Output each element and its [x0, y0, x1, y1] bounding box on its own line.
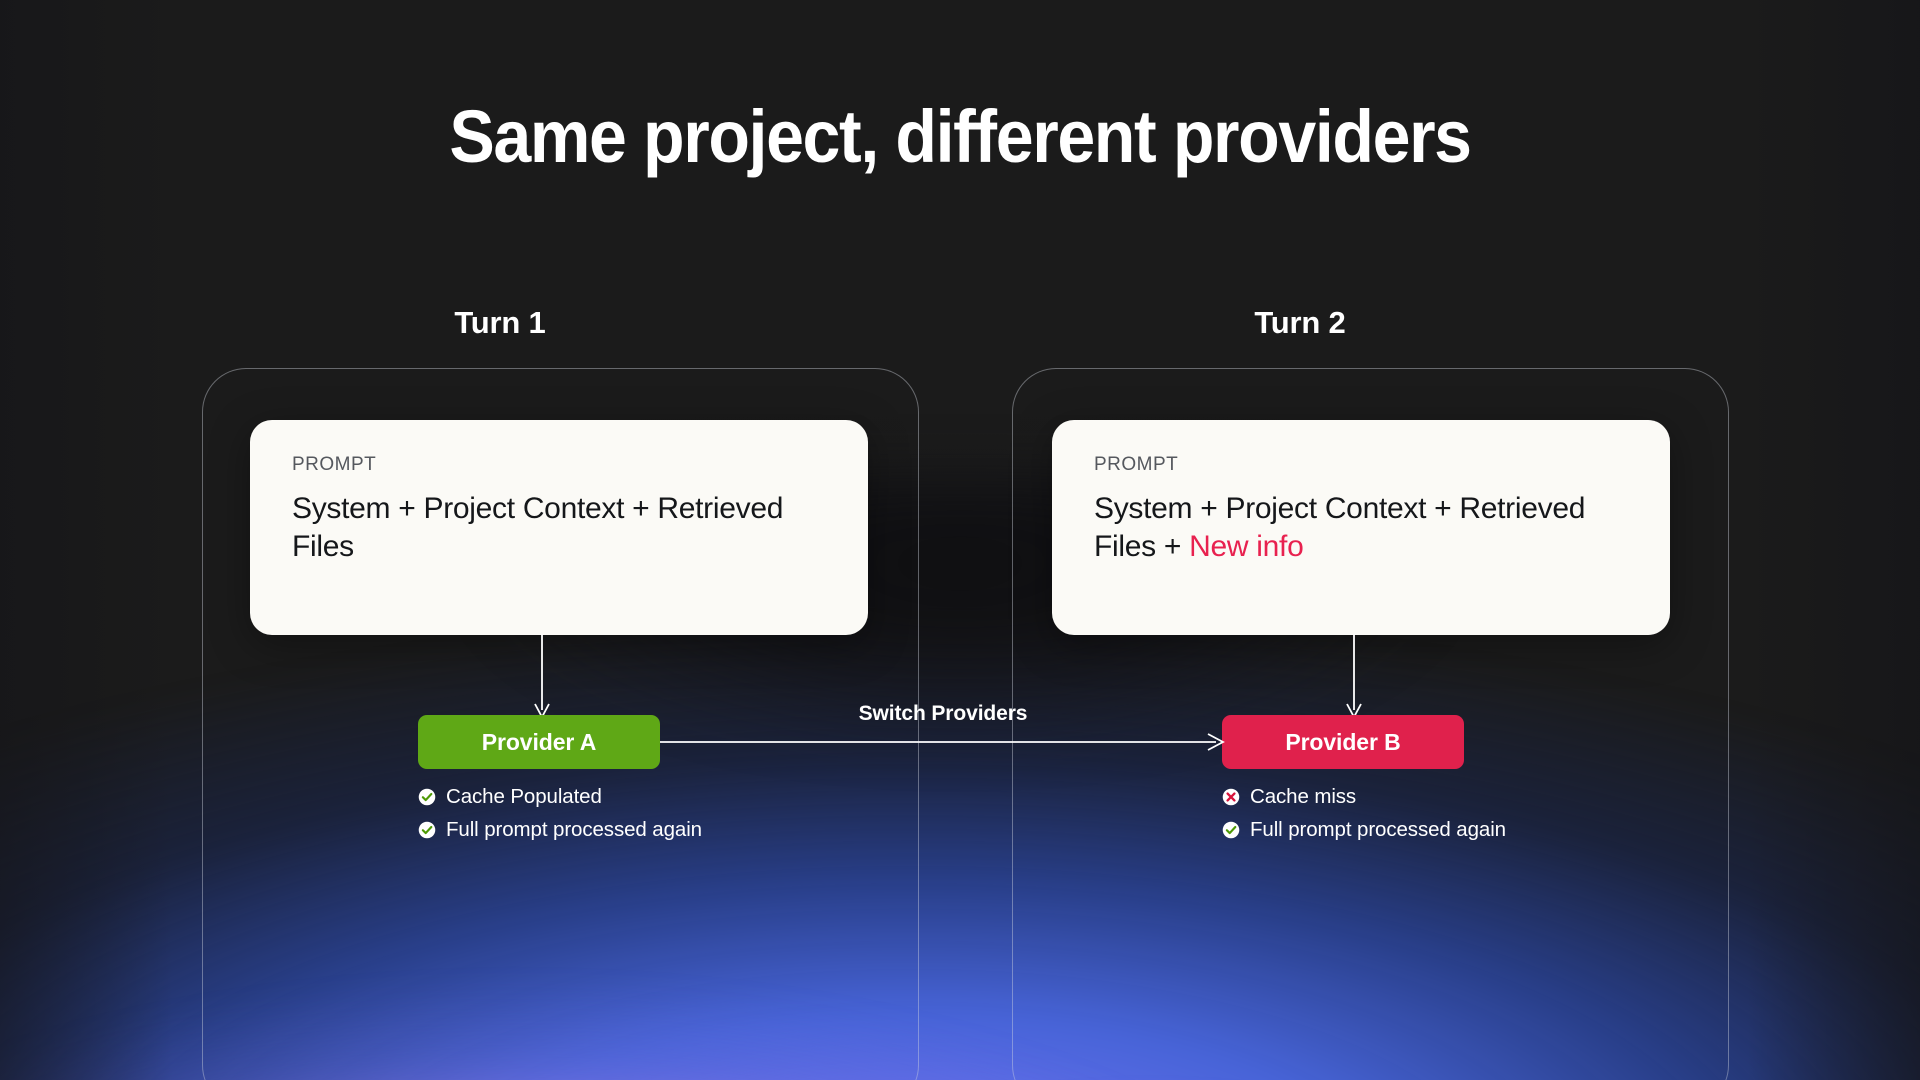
switch-providers-arrow-icon [660, 726, 1226, 758]
check-circle-icon [1222, 821, 1240, 839]
prompt-body-plain: System + Project Context + Retrieved Fil… [1094, 492, 1585, 563]
status-item-label: Full prompt processed again [1250, 818, 1506, 842]
provider-b-label: Provider B [1285, 729, 1400, 756]
turn-2-status-list: Cache miss Full prompt processed again [1222, 785, 1506, 842]
turn-1-down-arrow-icon [531, 634, 553, 720]
status-item-label: Cache Populated [446, 785, 602, 809]
slide-canvas: Same project, different providers Turn 1… [0, 0, 1920, 1080]
turn-1-status-list: Cache Populated Full prompt processed ag… [418, 785, 702, 842]
status-item: Full prompt processed again [418, 818, 702, 842]
prompt-body-highlight: New info [1189, 530, 1303, 563]
status-item: Cache Populated [418, 785, 702, 809]
page-title: Same project, different providers [77, 100, 1843, 174]
status-item-label: Full prompt processed again [446, 818, 702, 842]
check-circle-icon [418, 788, 436, 806]
provider-a-node[interactable]: Provider A [418, 715, 660, 769]
status-item-label: Cache miss [1250, 785, 1356, 809]
turn-2-prompt-card: PROMPT System + Project Context + Retrie… [1052, 420, 1670, 635]
status-item: Cache miss [1222, 785, 1506, 809]
x-circle-icon [1222, 788, 1240, 806]
prompt-body-text: System + Project Context + Retrieved Fil… [1094, 490, 1628, 567]
turn-1-prompt-card: PROMPT System + Project Context + Retrie… [250, 420, 868, 635]
provider-b-node[interactable]: Provider B [1222, 715, 1464, 769]
turn-1-label: Turn 1 [400, 305, 600, 341]
turn-2-label: Turn 2 [1200, 305, 1400, 341]
prompt-kicker-label: PROMPT [1094, 454, 1628, 476]
provider-a-label: Provider A [482, 729, 596, 756]
turn-2-down-arrow-icon [1343, 634, 1365, 720]
check-circle-icon [418, 821, 436, 839]
switch-providers-label: Switch Providers [660, 702, 1226, 726]
status-item: Full prompt processed again [1222, 818, 1506, 842]
prompt-body-plain: System + Project Context + Retrieved Fil… [292, 492, 783, 563]
prompt-body-text: System + Project Context + Retrieved Fil… [292, 490, 826, 567]
prompt-kicker-label: PROMPT [292, 454, 826, 476]
